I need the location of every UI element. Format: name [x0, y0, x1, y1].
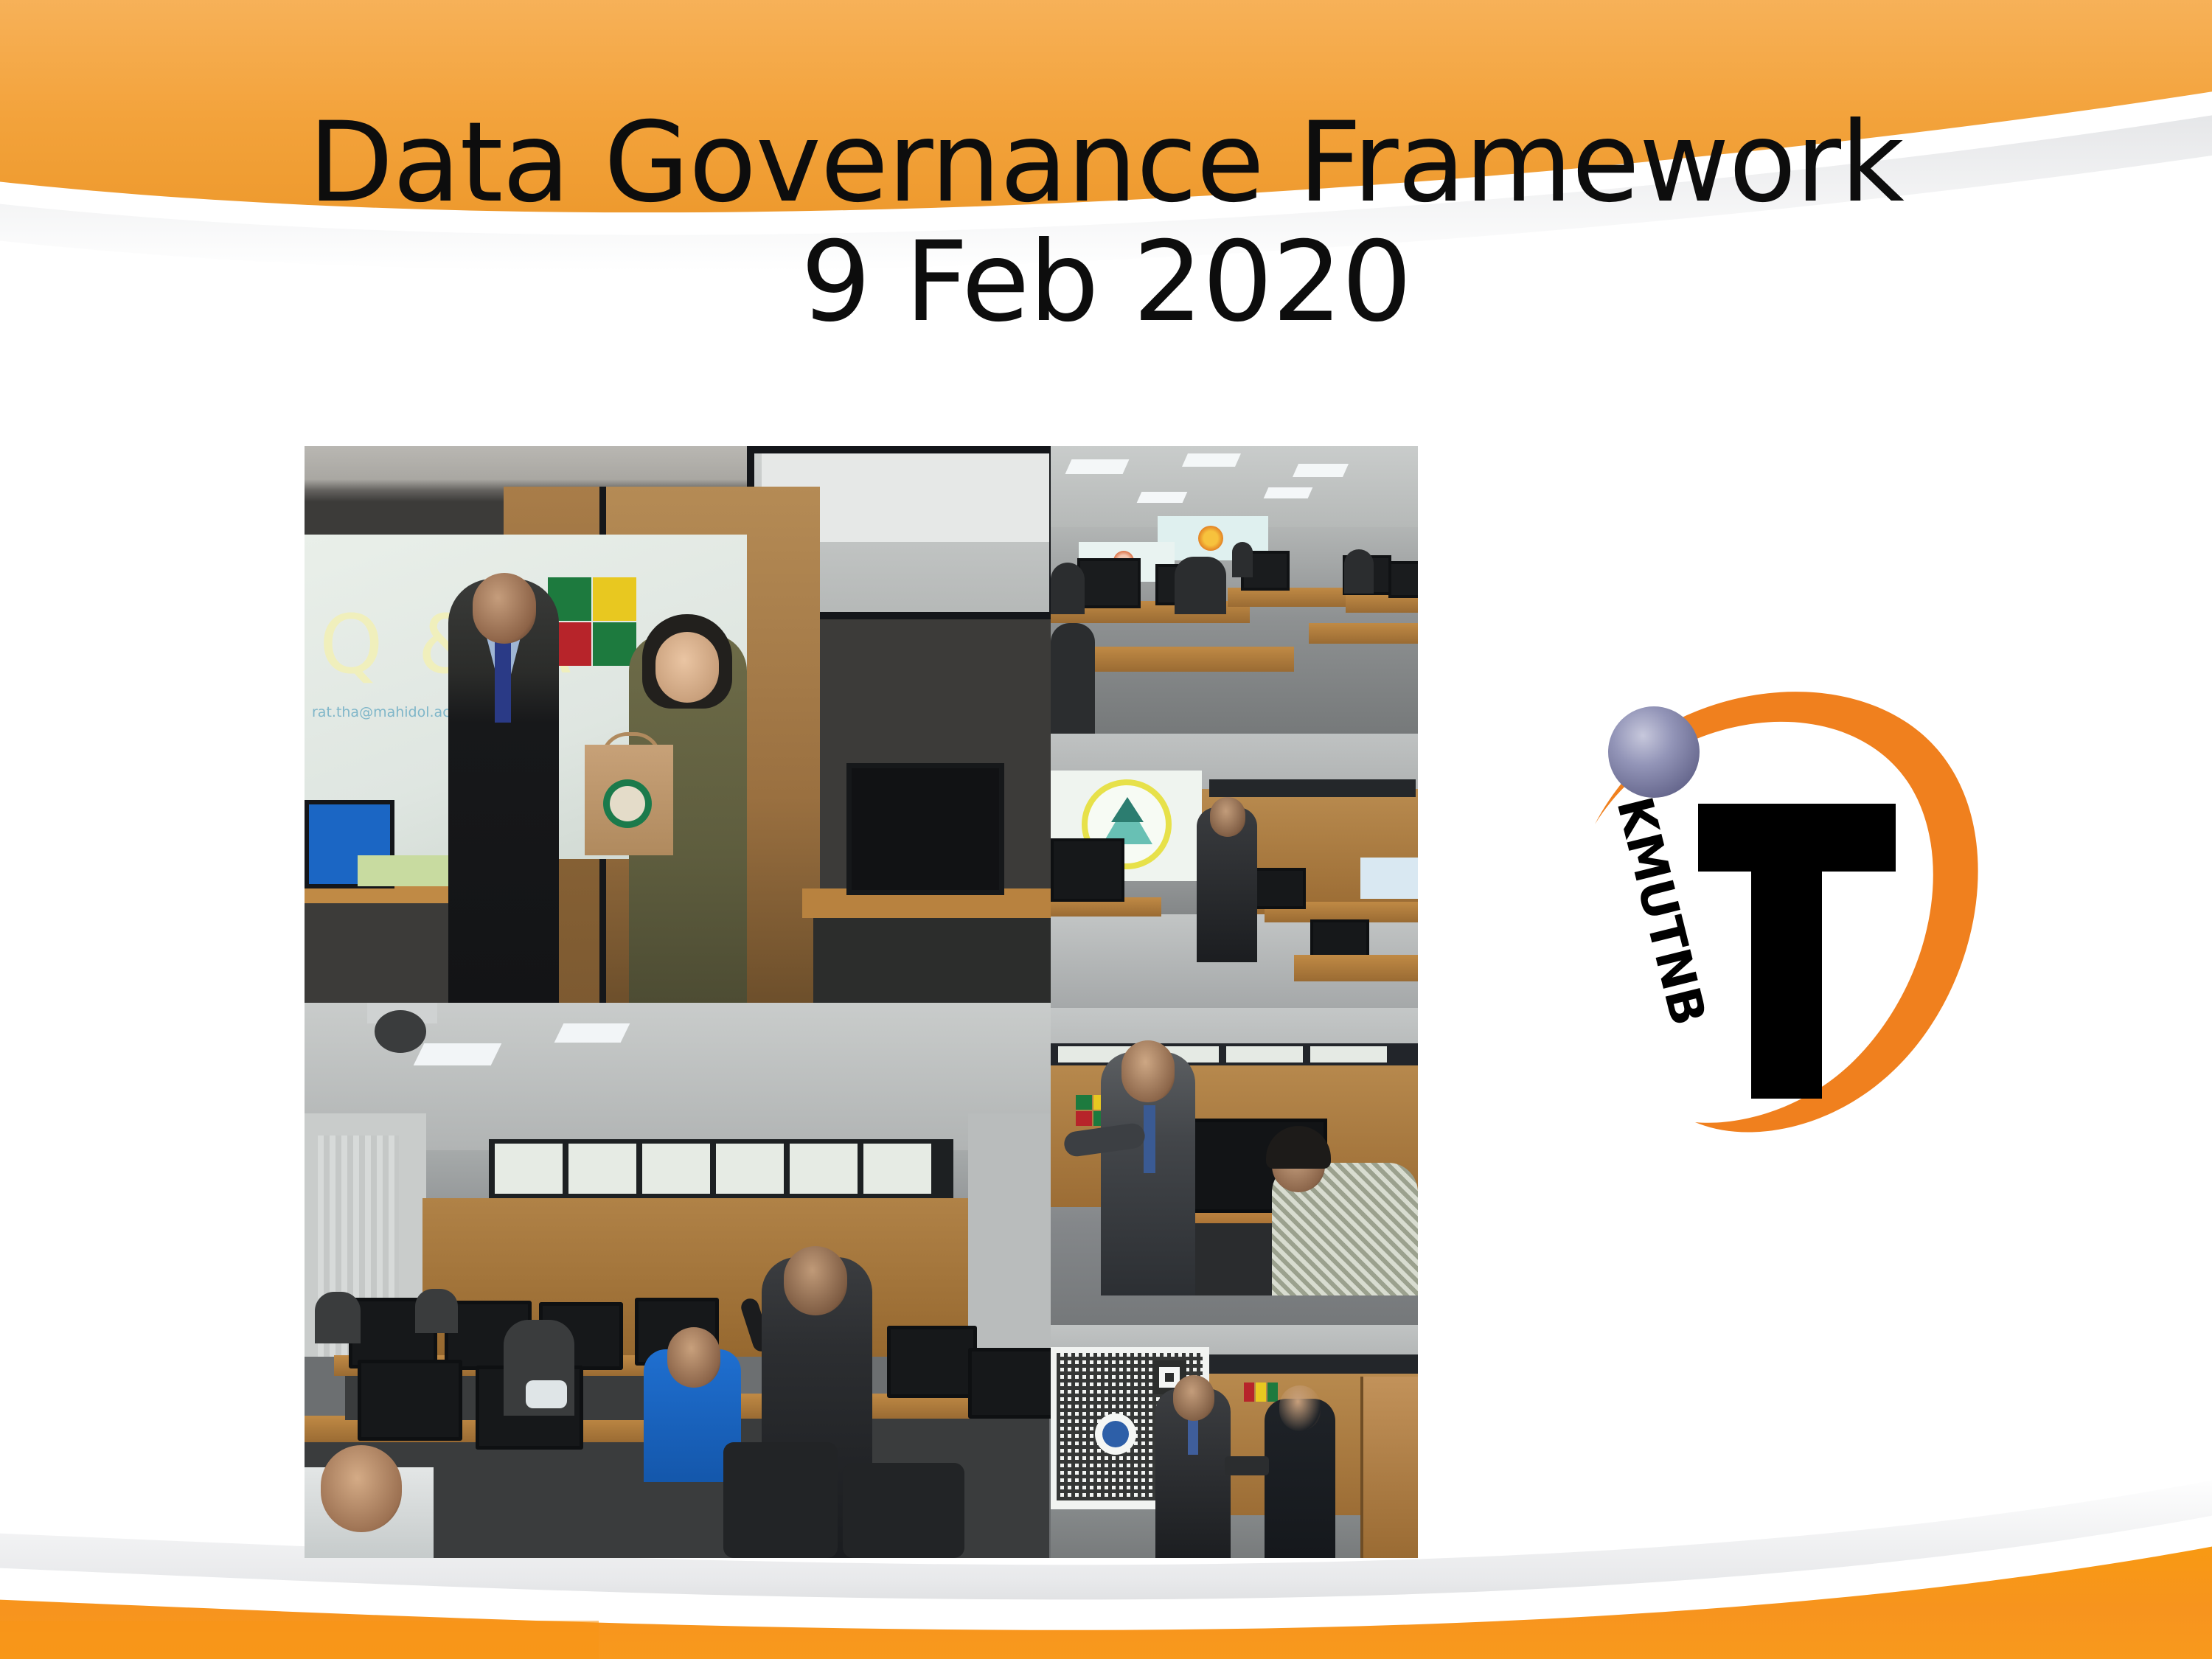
screen-email-text: rat.tha@mahidol.ac.th	[312, 704, 469, 720]
photo-award-handover: Q & A rat.tha@mahidol.ac.th	[305, 446, 1051, 1003]
photo-computer-lab-wide	[1051, 446, 1418, 734]
presentation-slide: Data Governance Framework 9 Feb 2020 Q &…	[0, 0, 2212, 1659]
collage-column-right	[1051, 446, 1418, 1558]
photo-lecture-with-microphone	[305, 1003, 1051, 1558]
safety-signs	[548, 577, 636, 666]
title-line-main: Data Governance Framework	[0, 103, 2212, 223]
photo-qr-code-handover	[1051, 1325, 1418, 1558]
bottom-orange-band	[0, 1541, 2212, 1659]
logo-sphere-icon	[1608, 706, 1700, 798]
event-photo-collage: Q & A rat.tha@mahidol.ac.th	[305, 446, 1418, 1558]
kmutnb-it-logo: KMUTNB	[1530, 664, 2002, 1180]
title-line-date: 9 Feb 2020	[0, 223, 2212, 342]
photo-instructor-assisting	[1051, 1008, 1418, 1325]
bottom-left-tint	[0, 1621, 599, 1659]
photo-presenter-pyramid-slide	[1051, 734, 1418, 1008]
safety-signs	[1244, 1382, 1278, 1402]
collage-column-left: Q & A rat.tha@mahidol.ac.th	[305, 446, 1051, 1558]
page-title: Data Governance Framework 9 Feb 2020	[0, 103, 2212, 342]
